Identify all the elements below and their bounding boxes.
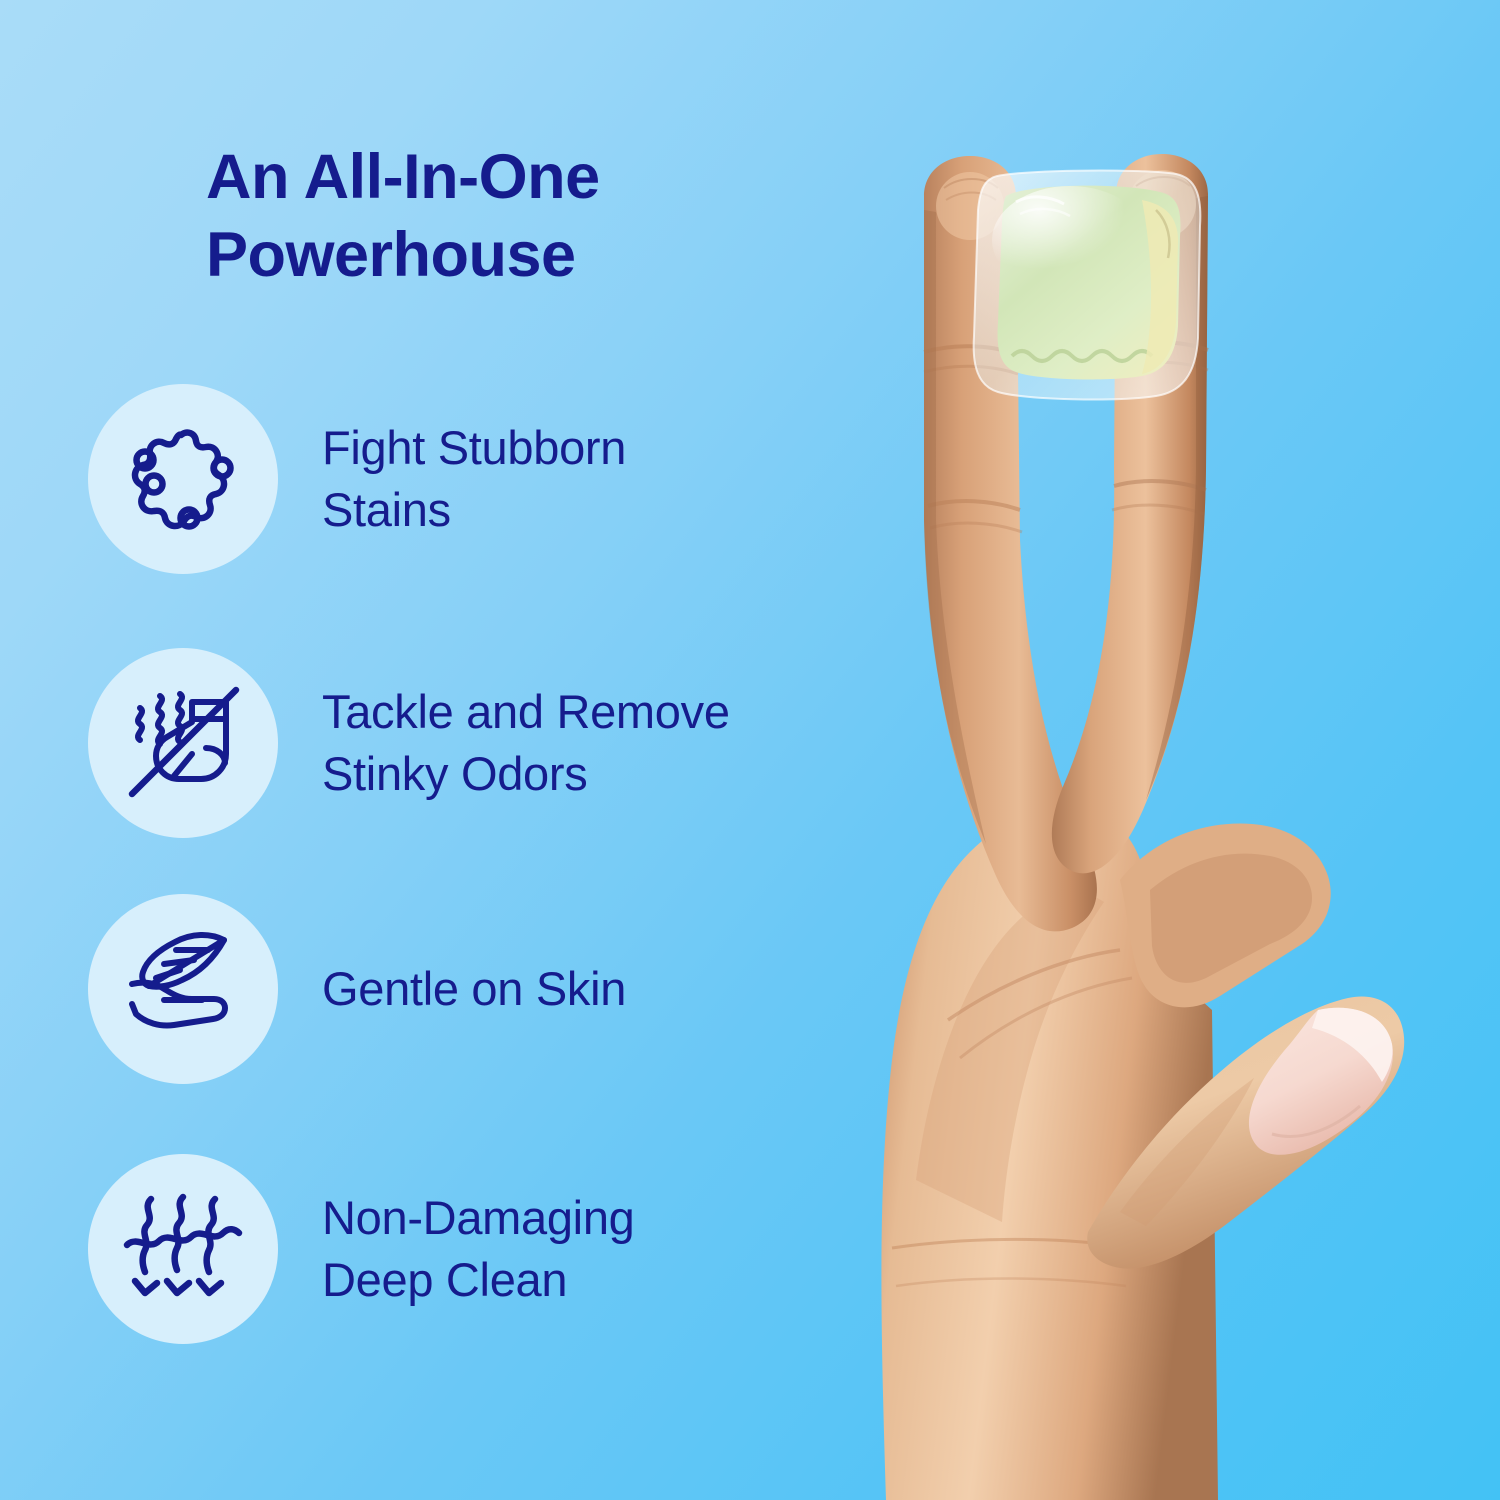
feature-label-line-2: Deep Clean [322, 1249, 635, 1311]
stain-splat-icon [118, 414, 248, 544]
feature-label-odors: Tackle and Remove Stinky Odors [322, 681, 730, 805]
leaf-in-hand-icon [116, 922, 250, 1056]
feature-label-line-2: Stinky Odors [322, 743, 730, 805]
no-odor-sock-icon [116, 676, 250, 810]
feature-label-line-2: Stains [322, 479, 626, 541]
feature-item-deep-clean: Non-Damaging Deep Clean [88, 1154, 848, 1344]
feature-icon-badge [88, 384, 278, 574]
feature-label-stains: Fight Stubborn Stains [322, 417, 626, 541]
feature-icon-badge [88, 648, 278, 838]
feature-icon-badge [88, 1154, 278, 1344]
feature-label-line-1: Tackle and Remove [322, 681, 730, 743]
feature-icon-badge [88, 894, 278, 1084]
page-title: An All-In-One Powerhouse [206, 138, 826, 294]
page-title-line-1: An All-In-One [206, 138, 826, 216]
feature-label-line-1: Gentle on Skin [322, 958, 626, 1020]
feature-label-deep-clean: Non-Damaging Deep Clean [322, 1187, 635, 1311]
feature-item-stains: Fight Stubborn Stains [88, 384, 848, 574]
feature-label-gentle: Gentle on Skin [322, 958, 626, 1020]
deep-penetration-arrows-icon [117, 1183, 249, 1315]
feature-label-line-1: Fight Stubborn [322, 417, 626, 479]
folded-fingers [1120, 824, 1331, 1008]
page-title-line-2: Powerhouse [206, 216, 826, 294]
feature-item-odors: Tackle and Remove Stinky Odors [88, 648, 848, 838]
detergent-pod [974, 171, 1201, 400]
hand-holding-pod-photo [820, 0, 1500, 1500]
feature-label-line-1: Non-Damaging [322, 1187, 635, 1249]
product-feature-graphic: An All-In-One Powerhouse Fight Stubborn … [0, 0, 1500, 1500]
feature-item-gentle: Gentle on Skin [88, 894, 848, 1084]
